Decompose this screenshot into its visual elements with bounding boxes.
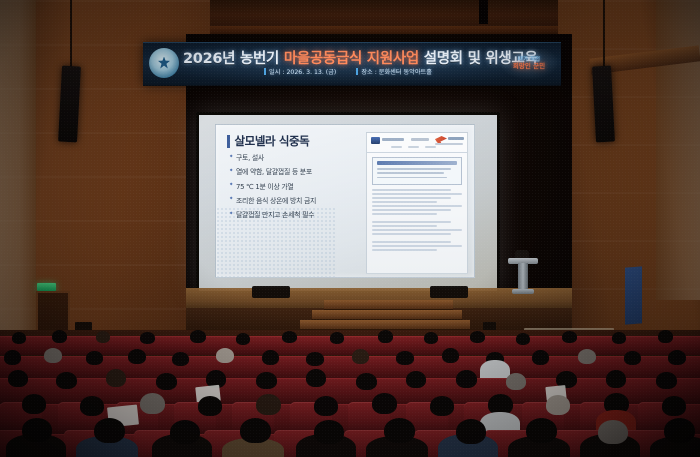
document-headline-placeholder [377,161,457,165]
document-body-text [372,189,462,215]
right-hanging-speaker [592,66,615,143]
projection-screen: 살모넬라 식중독 구토, 설사 열에 약함, 달걀껍질 등 분포 75 ℃ 1분… [199,115,497,291]
projection-screen-frame: 살모넬라 식중독 구토, 설사 열에 약함, 달걀껍질 등 분포 75 ℃ 1분… [196,112,500,294]
slide-title-accent-bar [227,135,230,148]
slogan-line-2: 희망인 군민 [513,63,545,70]
banner-place-text: 장소 : 문화센터 동악아트홀 [361,69,432,76]
banner-title-pre: 2026년 농번기 [183,51,284,67]
lectern [508,258,538,294]
document-label-placeholder [411,138,429,141]
press-release-document [366,132,468,274]
list-item: 75 ℃ 1분 이상 가열 [230,181,365,191]
left-wall-light-panel [0,0,36,340]
list-item: 조리한 음식 상온에 방치 금지 [230,195,365,205]
audience-seating-area [0,330,700,457]
right-speaker-wire [603,0,605,68]
agency-logo-icon [371,137,380,144]
banner-title: 2026년 농번기 마을공동급식 지원사업 설명회 및 위생교육 [183,47,513,68]
document-body-text-2 [372,221,462,235]
brand-sub-placeholder [435,143,463,145]
document-header [367,133,467,153]
slide-title-text: 살모넬라 식중독 [235,133,310,149]
left-hanging-speaker [58,66,81,143]
floor-monitor-left [252,286,290,298]
ceiling-drop-fixture [479,0,488,24]
wall-notice-panel [625,266,642,324]
banner-title-highlight: 마을공동급식 지원사업 [284,51,419,67]
presentation-slide: 살모넬라 식중독 구토, 설사 열에 약함, 달걀껍질 등 분포 75 ℃ 1분… [215,124,475,278]
slide-title: 살모넬라 식중독 [227,133,309,149]
slogan-badge: 내가 직접 희망인 군민 [501,49,557,79]
event-banner: 2026년 농번기 마을공동급식 지원사업 설명회 및 위생교육 일시 : 20… [143,42,561,86]
banner-subtitle: 일시 : 2026. 3. 13. (금) 장소 : 문화센터 동악아트홀 [183,67,513,76]
slide-bullet-list: 구토, 설사 열에 약함, 달걀껍질 등 분포 75 ℃ 1분 이상 가열 조리… [230,152,365,223]
document-meta-row [391,146,436,148]
list-item: 열에 약함, 달걀껍질 등 분포 [230,166,365,176]
auditorium-photo: 2026년 농번기 마을공동급식 지원사업 설명회 및 위생교육 일시 : 20… [0,0,700,457]
document-headline-box [372,157,462,185]
banner-date: 일시 : 2026. 3. 13. (금) [264,67,336,76]
document-body-text-3 [372,241,462,251]
banner-date-text: 일시 : 2026. 3. 13. (금) [269,69,336,76]
lectern-base [512,289,534,294]
list-item: 구토, 설사 [230,152,365,162]
county-emblem-icon [149,48,179,78]
banner-place: 장소 : 문화센터 동악아트홀 [356,67,432,76]
seat-row [0,378,700,405]
lectern-column [518,263,528,290]
agency-name-placeholder [382,138,404,141]
list-item: 달걀껍질 만지고 손세척 필수 [230,209,365,219]
floor-monitor-right [430,286,468,298]
exit-sign [37,283,56,291]
brand-text-placeholder [448,137,464,140]
left-speaker-wire [70,0,72,68]
